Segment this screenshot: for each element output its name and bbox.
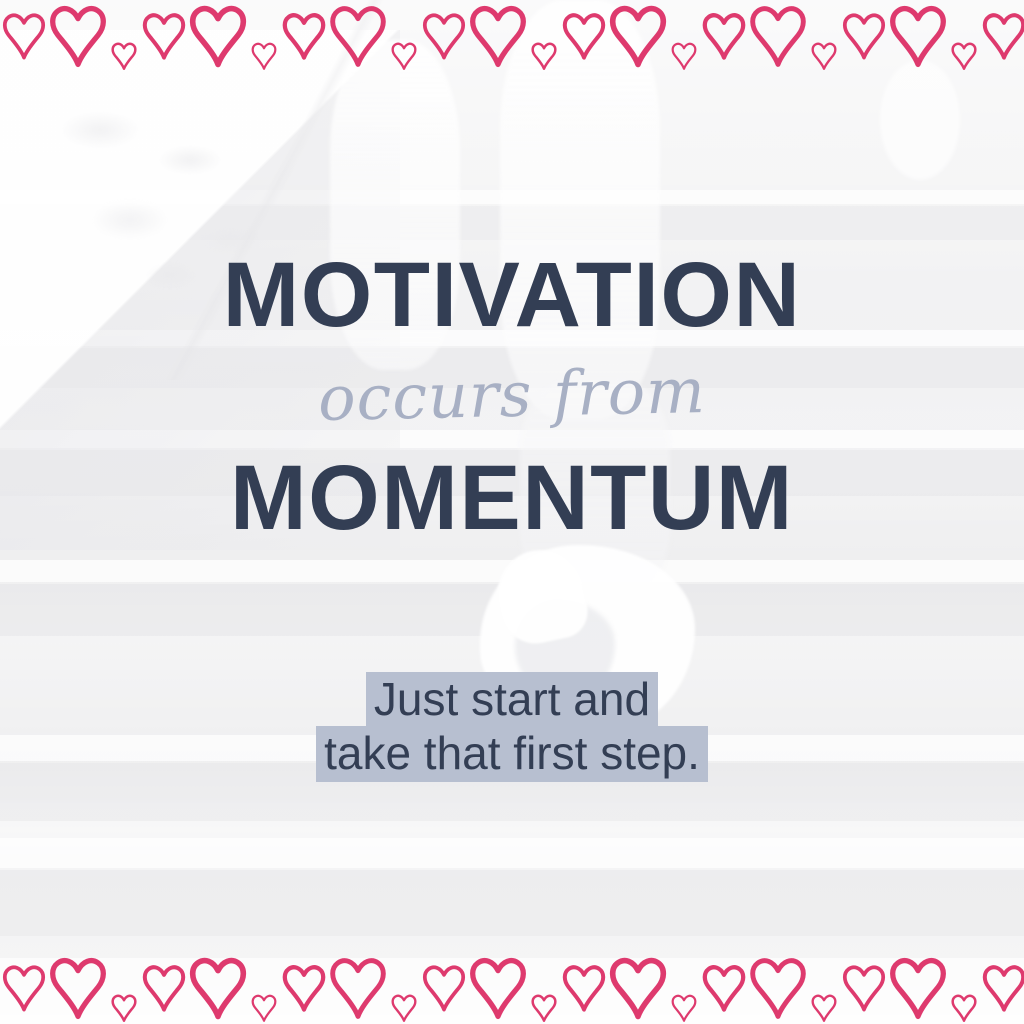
heart-icon (251, 994, 277, 1022)
heart-icon (142, 964, 186, 1012)
heart-icon (609, 956, 667, 1020)
heart-icon (842, 964, 886, 1012)
heart-border-bottom (0, 952, 1024, 1024)
heart-icon (422, 964, 466, 1012)
headline-motivation: MOTIVATION (0, 249, 1024, 341)
quote-content: MOTIVATION occurs from MOMENTUM Just sta… (0, 0, 1024, 1024)
heart-icon (671, 994, 697, 1022)
heart-group (140, 956, 280, 1024)
heart-group (700, 956, 840, 1024)
subtitle-block: Just start and take that first step. (0, 672, 1024, 780)
heart-group (560, 956, 700, 1024)
heart-group (840, 956, 980, 1024)
subtitle-line-1: Just start and (0, 672, 1024, 726)
heart-icon (702, 964, 746, 1012)
heart-icon (749, 956, 807, 1020)
heart-icon (982, 964, 1024, 1012)
headline-momentum: MOMENTUM (0, 452, 1024, 544)
heart-icon (562, 964, 606, 1012)
heart-icon (111, 994, 137, 1022)
heart-group (280, 956, 420, 1024)
heart-icon (951, 994, 977, 1022)
subtitle-line-2: take that first step. (0, 726, 1024, 780)
heart-group (420, 956, 560, 1024)
heart-icon (282, 964, 326, 1012)
heart-icon (469, 956, 527, 1020)
poster-canvas: MOTIVATION occurs from MOMENTUM Just sta… (0, 0, 1024, 1024)
heart-icon (889, 956, 947, 1020)
heart-group (0, 956, 140, 1024)
subtitle-line-2-text: take that first step. (316, 726, 708, 782)
heart-group (980, 956, 1024, 1024)
heart-icon (811, 994, 837, 1022)
heart-icon (329, 956, 387, 1020)
heart-icon (531, 994, 557, 1022)
script-occurs-from: occurs from (0, 353, 1024, 436)
heart-icon (49, 956, 107, 1020)
heart-icon (189, 956, 247, 1020)
subtitle-line-1-text: Just start and (366, 672, 658, 728)
heart-icon (2, 964, 46, 1012)
heart-icon (391, 994, 417, 1022)
